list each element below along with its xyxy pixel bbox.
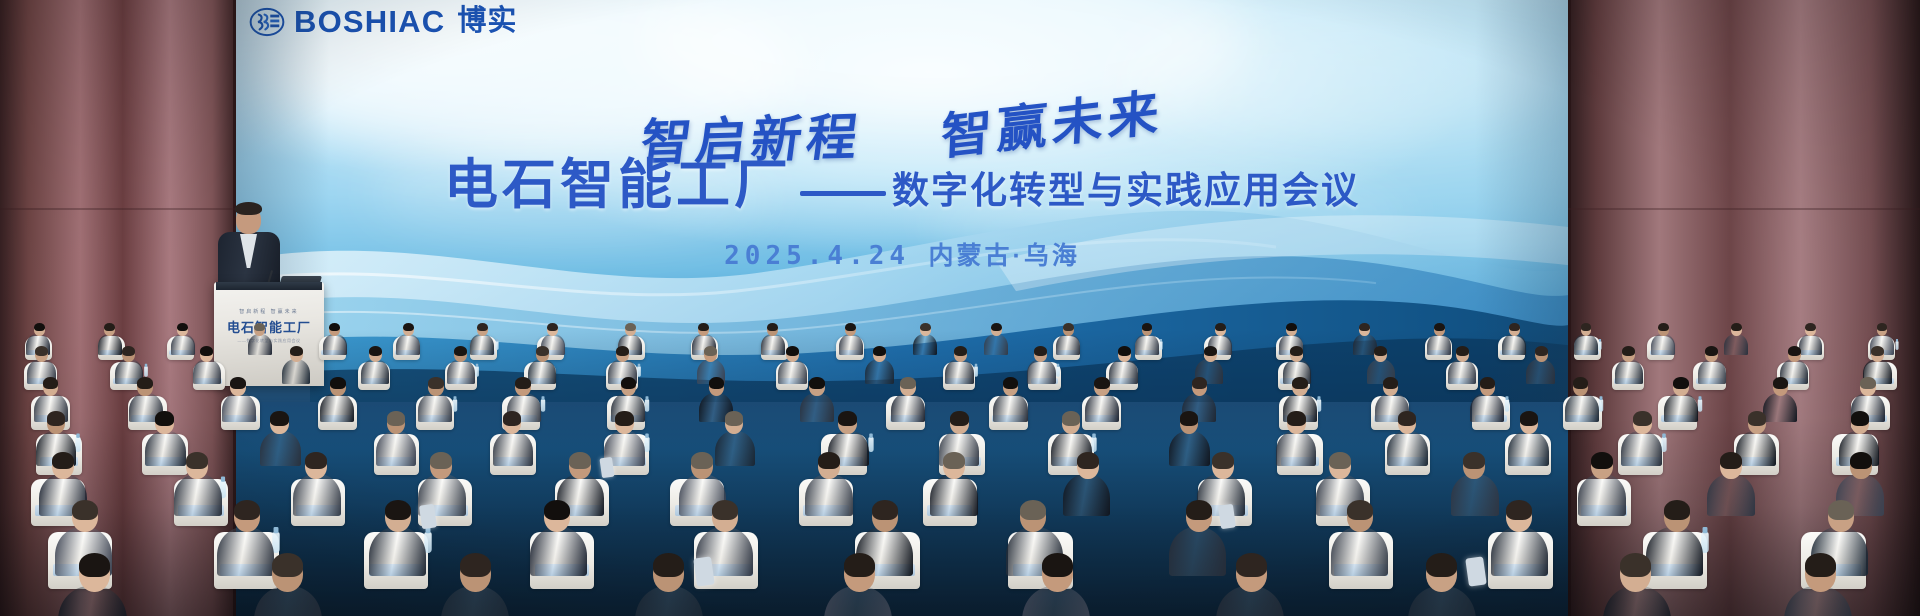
audience-member-hair [954,346,967,356]
audience-member-hair [1290,346,1303,356]
audience-member-hair [47,411,65,425]
audience-member [1698,359,1727,384]
audience-member-hair [330,377,346,389]
audience-member-hair [515,377,531,389]
audience-member-hair [1063,323,1074,332]
audience-member-hair [818,452,840,469]
audience-member-hair [1788,346,1801,356]
audience-member-hair [1383,377,1399,389]
audience-member [1448,359,1477,384]
audience-member-hair [691,452,713,469]
audience-member [282,359,311,384]
audience-member [1470,393,1504,423]
audience-member-hair [1186,500,1212,520]
audience-member-hair [712,500,738,520]
calligraphy-line-2: 智赢未来 [940,72,1166,169]
audience-member-hair [369,346,382,356]
water-bottle [644,437,649,452]
audience-member [248,334,272,355]
audience-member-hair [1042,553,1073,577]
audience-member [839,334,863,355]
audience-member-hair [1828,500,1854,520]
audience-member-hair [1062,411,1080,425]
audience-member-hair [1480,377,1496,389]
audience-member-hair [177,323,188,332]
logo-wordmark: BOSHIAC [294,6,445,37]
audience-member-hair [1212,452,1234,469]
audience-member-hair [305,452,327,469]
audience-member-hair [1773,377,1789,389]
audience-member-hair [477,323,488,332]
audience-member-hair [329,323,340,332]
audience-member [217,527,274,577]
audience-member [1427,334,1451,355]
audience-member [1135,334,1159,355]
water-bottle [495,341,498,350]
audience-member-hair [290,346,303,356]
audience-member-hair [72,500,98,520]
audience-member-hair [1347,500,1373,520]
audience-member-hair [653,553,684,577]
audience-member-hair [230,377,246,389]
water-bottle [541,400,545,413]
audience-member [1574,334,1598,355]
audience-member-hair [544,500,570,520]
audience-member-hair [1287,411,1305,425]
audience-member-hair [1180,411,1198,425]
audience-member [528,359,557,384]
audience-member-hair [403,323,414,332]
audience-member-hair [43,377,59,389]
water-bottle [974,366,978,377]
water-bottle [868,437,873,452]
audience-member-hair [272,553,303,577]
audience-member-hair [1118,346,1131,356]
audience-phone [1466,556,1488,586]
audience-member-hair [1456,346,1469,356]
audience-member [376,431,416,466]
audience-member-hair [270,411,288,425]
podium-top-surface [216,282,322,290]
audience-member-hair [454,346,467,356]
audience-member [1331,527,1388,577]
water-bottle [144,366,148,377]
audience-member [323,334,347,355]
audience-member [1707,474,1755,516]
water-bottle [476,366,480,377]
audience-member-hair [1398,411,1416,425]
audience-member [805,474,853,516]
audience-member-hair [137,377,153,389]
audience-member-hair [234,500,260,520]
audience-member-hair [1805,553,1836,577]
audience-member-hair [1292,377,1308,389]
audience-member [145,431,185,466]
water-bottle [76,437,81,452]
audience-member [260,431,300,466]
audience-member-hair [625,323,636,332]
audience-member-hair [900,377,916,389]
audience-member-hair [428,377,444,389]
audience-member-hair [1633,411,1651,425]
audience-member [293,474,341,516]
water-bottle [1091,437,1096,452]
audience-member [1526,359,1555,384]
audience-member-hair [1215,323,1226,332]
audience-member [493,431,533,466]
audience-member-hair [547,323,558,332]
audience-member-hair [1664,500,1690,520]
audience-member-hair [1658,323,1669,332]
water-bottle [452,400,456,413]
audience-member-hair [1705,346,1718,356]
audience-member-hair [1509,323,1520,332]
headline-subtitle: 数字化转型与实践应用会议 [892,172,1360,212]
audience-member [1169,431,1209,466]
audience-member-hair [1860,377,1876,389]
audience-member [1353,334,1377,355]
audience-member [361,359,390,384]
audience-member-hair [1094,377,1110,389]
audience-member [174,474,222,516]
conference-photo: BOSHIAC 博实 智启新程 智赢未来 电石智能工厂 数字化转型与实践应用会议… [0,0,1920,616]
audience-member-hair [1204,346,1217,356]
boshiac-circular-logo-icon [249,7,285,37]
audience-member-hair [1034,346,1047,356]
audience-member [1502,334,1526,355]
water-bottle [1599,341,1602,350]
audience-member-hair [709,377,725,389]
audience-phone [419,504,437,529]
water-bottle [1598,400,1602,413]
audience-member-hair [767,323,778,332]
audience-member-hair [1851,411,1869,425]
audience-phone [693,556,715,586]
audience-member-hair [569,452,591,469]
audience-member [1056,334,1080,355]
headline-separator-rule [800,191,886,196]
audience-member-hair [950,411,968,425]
audience-member [1621,431,1661,466]
headline-main: 电石智能工厂 [444,158,792,212]
audience-member-hair [872,500,898,520]
audience-member [1276,431,1316,466]
audience-member-hair [1581,323,1592,332]
audience-member [715,431,755,466]
audience-member-hair [186,452,208,469]
audience-member-hair [385,500,411,520]
audience-member [1063,474,1111,516]
audience-member-hair [838,411,856,425]
audience-member [993,393,1027,423]
audience-member-hair [920,323,931,332]
water-bottle [637,366,641,377]
water-bottle [1317,400,1321,413]
audience-member-hair [621,377,637,389]
audience-member [913,334,937,355]
audience-seating [0,316,1920,616]
water-bottle [1056,366,1060,377]
audience-member-hair [122,346,135,356]
audience-member-hair [1731,323,1742,332]
audience-member-hair [1374,346,1387,356]
audience-member-hair [786,346,799,356]
audience-member-hair [387,411,405,425]
audience-member-hair [1871,346,1884,356]
audience-member [1565,393,1599,423]
speaker-hair [235,202,262,215]
audience-member [222,393,256,423]
audience-member [1387,431,1427,466]
audience-member-hair [1520,411,1538,425]
audience-member [945,359,974,384]
audience-member [1724,334,1748,355]
audience-member [1664,393,1698,423]
audience-member [800,393,834,423]
conference-date: 2025.4.24 [724,241,910,271]
audience-member [171,334,195,355]
audience-member-hair [943,452,965,469]
audience-member [1763,393,1797,423]
audience-member [891,393,925,423]
audience-member-hair [1673,377,1689,389]
audience-member-hair [254,323,265,332]
audience-member-hair [1463,452,1485,469]
audience-member [418,393,452,423]
audience-member [1491,527,1548,577]
audience-member-hair [104,323,115,332]
audience-member-hair [1236,553,1267,577]
audience-member-hair [155,411,173,425]
audience-member [1109,359,1138,384]
audience-member-hair [615,411,633,425]
audience-member [369,527,426,577]
audience-member [320,393,354,423]
audience-member-hair [460,553,491,577]
audience-member-hair [1850,452,1872,469]
audience-member-hair [616,346,629,356]
audience-member-hair [698,323,709,332]
audience-member [930,474,978,516]
audience-member-hair [1142,323,1153,332]
audience-member-hair [1805,323,1816,332]
audience-member-hair [725,411,743,425]
audience-member-hair [1077,452,1099,469]
audience-member-hair [809,377,825,389]
audience-member [865,359,894,384]
conference-location: 内蒙古·乌海 [929,242,1080,270]
audience-member-hair [536,346,549,356]
audience-member-hair [873,346,886,356]
audience-member [778,359,807,384]
audience-member [470,334,494,355]
audience-member-hair [1573,377,1589,389]
audience-member-hair [704,346,717,356]
logo-chinese-name: 博实 [457,7,517,36]
audience-member [761,334,785,355]
water-bottle [1661,437,1666,452]
audience-member [1578,474,1626,516]
audience-member [193,359,222,384]
calligraphy-gap [882,153,916,154]
audience-phone [599,457,614,478]
audience-member-hair [1003,377,1019,389]
audience-member [396,334,420,355]
audience-member [530,527,587,577]
audience-member-hair [991,323,1002,332]
audience-member-hair [1506,500,1532,520]
audience-member-hair [1720,452,1742,469]
audience-member-hair [1591,452,1613,469]
audience-member [98,334,122,355]
audience-member [1508,431,1548,466]
audience-member-hair [1359,323,1370,332]
podium-sign-slogan: 智启新程 智赢未来 [214,308,324,315]
audience-member-hair [503,411,521,425]
audience-member-hair [1748,411,1766,425]
audience-member-hair [200,346,213,356]
conference-headline: 电石智能工厂 数字化转型与实践应用会议 [236,158,1568,212]
audience-member-hair [1877,323,1888,332]
audience-member-hair [844,553,875,577]
audience-member [1651,334,1675,355]
audience-member [1615,359,1644,384]
audience-member [984,334,1008,355]
audience-member-hair [1329,452,1351,469]
audience-member-hair [1535,346,1548,356]
audience-member-hair [1192,377,1208,389]
water-bottle [1698,400,1702,413]
audience-member-hair [34,323,45,332]
audience-member [1085,393,1119,423]
audience-member-hair [35,346,48,356]
audience-member [1646,527,1703,577]
boshiac-logo: BOSHIAC 博实 [249,6,517,37]
water-bottle [1895,341,1898,350]
audience-member-hair [1020,500,1046,520]
audience-member [447,359,476,384]
water-bottle [645,400,649,413]
audience-member-hair [52,452,74,469]
audience-member [1799,334,1823,355]
audience-member-hair [1426,553,1457,577]
audience-member-hair [79,553,110,577]
water-bottle [1504,400,1508,413]
water-bottle [1160,341,1163,350]
audience-member [1169,527,1226,577]
audience-member-hair [1434,323,1445,332]
audience-member-hair [430,452,452,469]
audience-member-hair [845,323,856,332]
conference-dateline: 2025.4.24 内蒙古·乌海 [236,236,1568,272]
audience-member-hair [1620,553,1651,577]
audience-member-hair [1286,323,1297,332]
audience-member-hair [1622,346,1635,356]
audience-member [1451,474,1499,516]
audience-member [1027,359,1056,384]
